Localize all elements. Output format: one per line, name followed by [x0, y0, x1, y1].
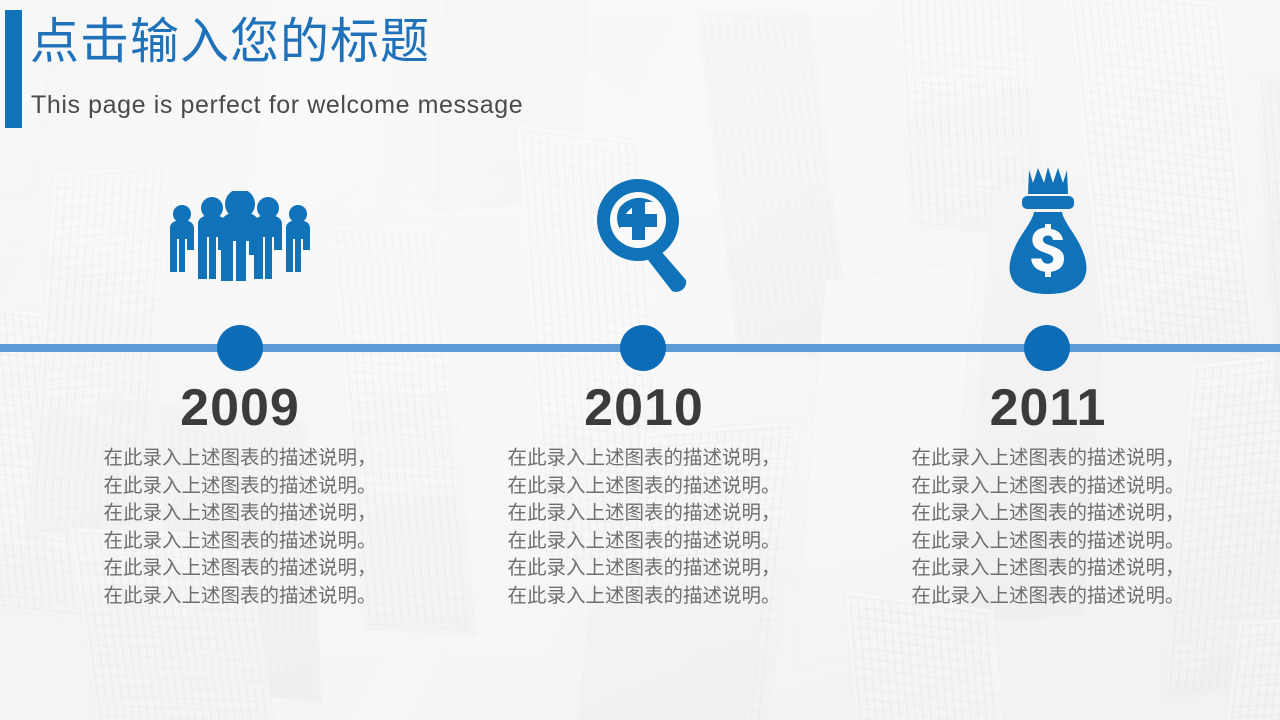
milestone-column-2010: 2010 在此录入上述图表的描述说明， 在此录入上述图表的描述说明。 在此录入上…	[434, 380, 854, 609]
description-line: 在此录入上述图表的描述说明。	[838, 472, 1258, 500]
people-group-icon	[165, 191, 315, 281]
description-line: 在此录入上述图表的描述说明。	[838, 527, 1258, 555]
milestone-description: 在此录入上述图表的描述说明， 在此录入上述图表的描述说明。 在此录入上述图表的描…	[30, 444, 450, 609]
description-line: 在此录入上述图表的描述说明。	[30, 582, 450, 610]
milestone-description: 在此录入上述图表的描述说明， 在此录入上述图表的描述说明。 在此录入上述图表的描…	[434, 444, 854, 609]
description-line: 在此录入上述图表的描述说明。	[434, 582, 854, 610]
description-line: 在此录入上述图表的描述说明，	[30, 554, 450, 582]
description-line: 在此录入上述图表的描述说明，	[434, 554, 854, 582]
milestone-description: 在此录入上述图表的描述说明， 在此录入上述图表的描述说明。 在此录入上述图表的描…	[838, 444, 1258, 609]
slide-header: 点击输入您的标题 This page is perfect for welcom…	[0, 0, 1280, 140]
accent-bar	[5, 10, 22, 128]
description-line: 在此录入上述图表的描述说明。	[30, 527, 450, 555]
icon-people-group[interactable]	[165, 191, 315, 281]
description-line: 在此录入上述图表的描述说明。	[838, 582, 1258, 610]
description-line: 在此录入上述图表的描述说明，	[30, 444, 450, 472]
milestone-year: 2011	[838, 380, 1258, 436]
timeline-node-2011[interactable]	[1024, 325, 1070, 371]
description-line: 在此录入上述图表的描述说明，	[434, 444, 854, 472]
page-title: 点击输入您的标题	[30, 17, 430, 68]
milestone-column-2011: 2011 在此录入上述图表的描述说明， 在此录入上述图表的描述说明。 在此录入上…	[838, 380, 1258, 609]
icon-magnifier-plus[interactable]	[594, 176, 702, 294]
milestone-column-2009: 2009 在此录入上述图表的描述说明， 在此录入上述图表的描述说明。 在此录入上…	[30, 380, 450, 609]
description-line: 在此录入上述图表的描述说明。	[434, 527, 854, 555]
icon-money-bag[interactable]	[1002, 166, 1094, 298]
timeline-node-2010[interactable]	[620, 325, 666, 371]
magnifier-plus-icon	[594, 176, 702, 294]
milestone-year: 2010	[434, 380, 854, 436]
description-line: 在此录入上述图表的描述说明。	[434, 472, 854, 500]
slide-canvas: 点击输入您的标题 This page is perfect for welcom…	[0, 0, 1280, 720]
description-line: 在此录入上述图表的描述说明，	[434, 499, 854, 527]
description-line: 在此录入上述图表的描述说明，	[30, 499, 450, 527]
money-bag-icon	[1002, 166, 1094, 298]
milestone-year: 2009	[30, 380, 450, 436]
description-line: 在此录入上述图表的描述说明，	[838, 554, 1258, 582]
timeline-node-2009[interactable]	[217, 325, 263, 371]
description-line: 在此录入上述图表的描述说明，	[838, 499, 1258, 527]
page-subtitle: This page is perfect for welcome message	[31, 91, 523, 120]
description-line: 在此录入上述图表的描述说明，	[838, 444, 1258, 472]
description-line: 在此录入上述图表的描述说明。	[30, 472, 450, 500]
